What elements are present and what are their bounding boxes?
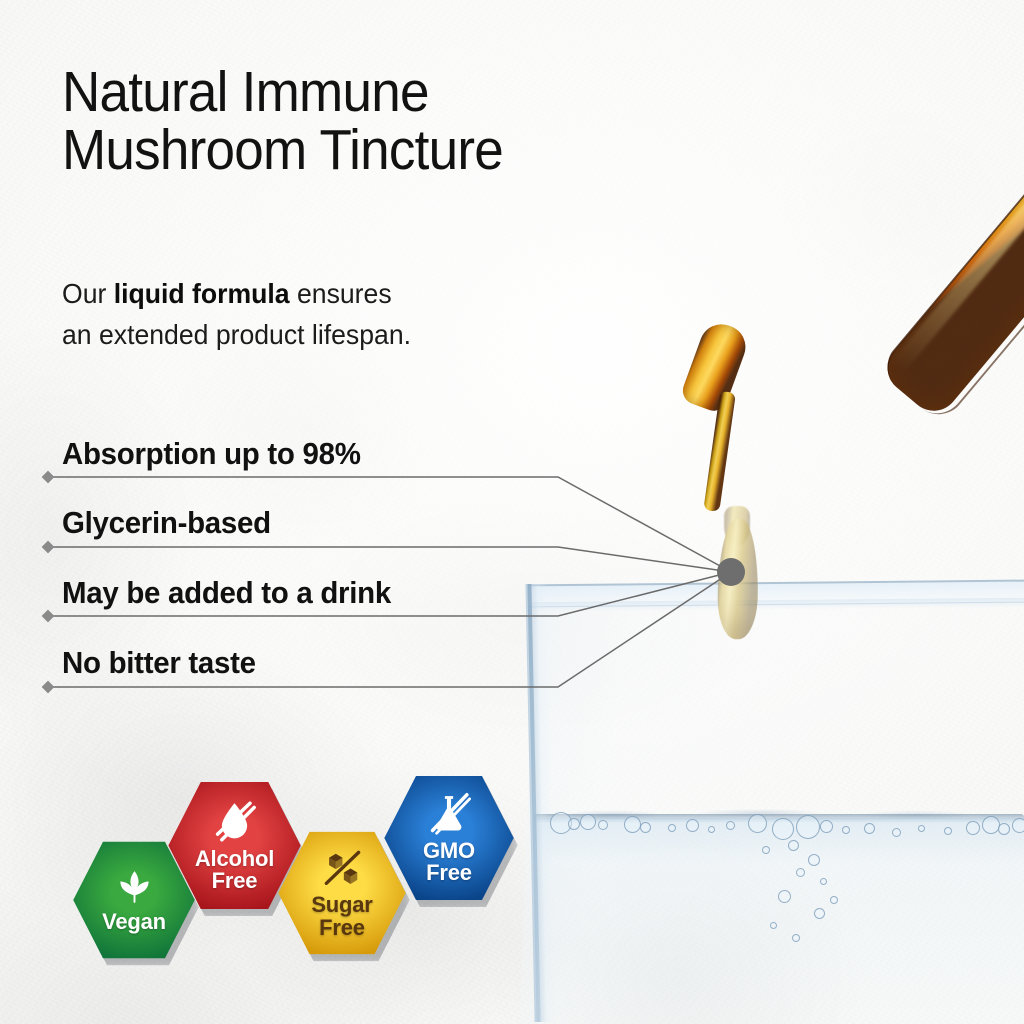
subtitle-line-1: Our liquid formula ensures (62, 274, 651, 315)
badge-label-line-2: Free (195, 870, 274, 892)
page-title: Natural Immune Mushroom Tincture (62, 64, 769, 179)
subtitle-post: ensures (290, 278, 392, 309)
flask-slash-icon (427, 792, 471, 836)
subtitle-emphasis: liquid formula (114, 278, 290, 309)
badge-label-line-2: Free (311, 917, 372, 939)
badge-label: Vegan (102, 911, 166, 933)
badge-label-line-2: Free (423, 862, 475, 884)
title-line-2: Mushroom Tincture (62, 122, 769, 180)
sugar-cubes-slash-icon (321, 847, 364, 890)
badge-label: AlcoholFree (195, 848, 274, 893)
badge-label: GMOFree (423, 840, 475, 885)
badge-label-line-1: GMO (423, 840, 475, 862)
title-line-1: Natural Immune (62, 64, 769, 122)
page-subtitle: Our liquid formula ensures an extended p… (62, 274, 651, 356)
badge-label-line-1: Vegan (102, 911, 166, 933)
badge-label: SugarFree (311, 894, 372, 939)
droplet-slash-icon (212, 799, 257, 844)
badge-label-line-1: Sugar (311, 894, 372, 916)
subtitle-pre: Our (62, 278, 114, 309)
leaf-icon (114, 866, 155, 907)
badge-label-line-1: Alcohol (195, 848, 274, 870)
infographic-canvas: Absorption up to 98%Glycerin-basedMay be… (0, 0, 1024, 1024)
subtitle-line-2: an extended product lifespan. (62, 315, 651, 356)
